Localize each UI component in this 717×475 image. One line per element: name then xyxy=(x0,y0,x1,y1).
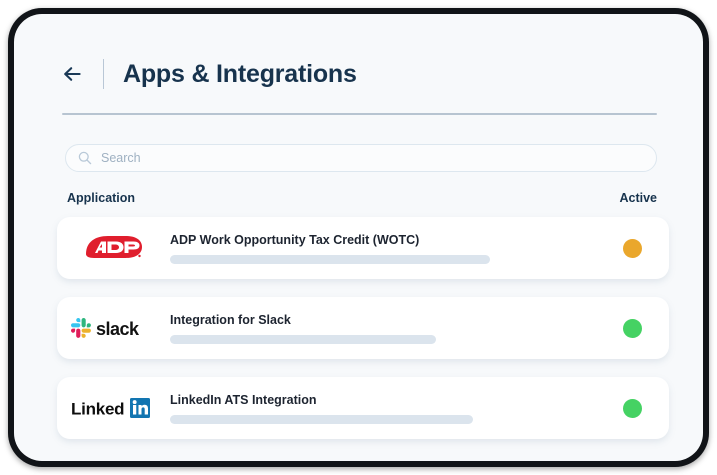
status-badge[interactable] xyxy=(623,399,642,418)
app-logo-cell: Linked xyxy=(57,394,170,422)
header-separator xyxy=(103,59,104,89)
column-header-active: Active xyxy=(619,191,657,205)
back-button[interactable] xyxy=(58,59,88,89)
app-logo-cell xyxy=(57,232,170,264)
table-row[interactable]: ADP Work Opportunity Tax Credit (WOTC) xyxy=(57,217,669,279)
table-row[interactable]: Linked LinkedIn ATS Integration xyxy=(57,377,669,439)
status-badge[interactable] xyxy=(623,319,642,338)
table-row[interactable]: slack Integration for Slack xyxy=(57,297,669,359)
app-name: LinkedIn ATS Integration xyxy=(170,393,585,407)
app-info: LinkedIn ATS Integration xyxy=(170,393,595,424)
app-name: Integration for Slack xyxy=(170,313,585,327)
page-header: Apps & Integrations xyxy=(58,50,357,98)
search-input[interactable] xyxy=(101,151,644,165)
device-frame: Apps & Integrations Application Active xyxy=(8,8,709,467)
status-cell xyxy=(595,239,669,258)
column-header-application: Application xyxy=(67,191,135,205)
app-description-placeholder xyxy=(170,415,473,424)
app-logo-cell: slack xyxy=(57,315,170,341)
app-info: ADP Work Opportunity Tax Credit (WOTC) xyxy=(170,233,595,264)
back-arrow-icon xyxy=(62,66,84,82)
status-cell xyxy=(595,399,669,418)
app-name: ADP Work Opportunity Tax Credit (WOTC) xyxy=(170,233,585,247)
app-list: ADP Work Opportunity Tax Credit (WOTC) xyxy=(57,217,669,457)
column-headers: Application Active xyxy=(67,191,657,205)
status-cell xyxy=(595,319,669,338)
search-icon xyxy=(78,151,92,165)
app-screen: Apps & Integrations Application Active xyxy=(14,14,703,461)
svg-text:Linked: Linked xyxy=(71,400,124,419)
search-box[interactable] xyxy=(65,144,657,172)
header-divider xyxy=(62,113,657,115)
linkedin-logo: Linked xyxy=(70,394,158,422)
app-info: Integration for Slack xyxy=(170,313,595,344)
adp-logo xyxy=(83,232,145,264)
app-description-placeholder xyxy=(170,335,436,344)
slack-logo: slack xyxy=(70,315,158,341)
svg-text:slack: slack xyxy=(96,319,140,339)
page-title: Apps & Integrations xyxy=(123,60,357,89)
app-description-placeholder xyxy=(170,255,490,264)
status-badge[interactable] xyxy=(623,239,642,258)
